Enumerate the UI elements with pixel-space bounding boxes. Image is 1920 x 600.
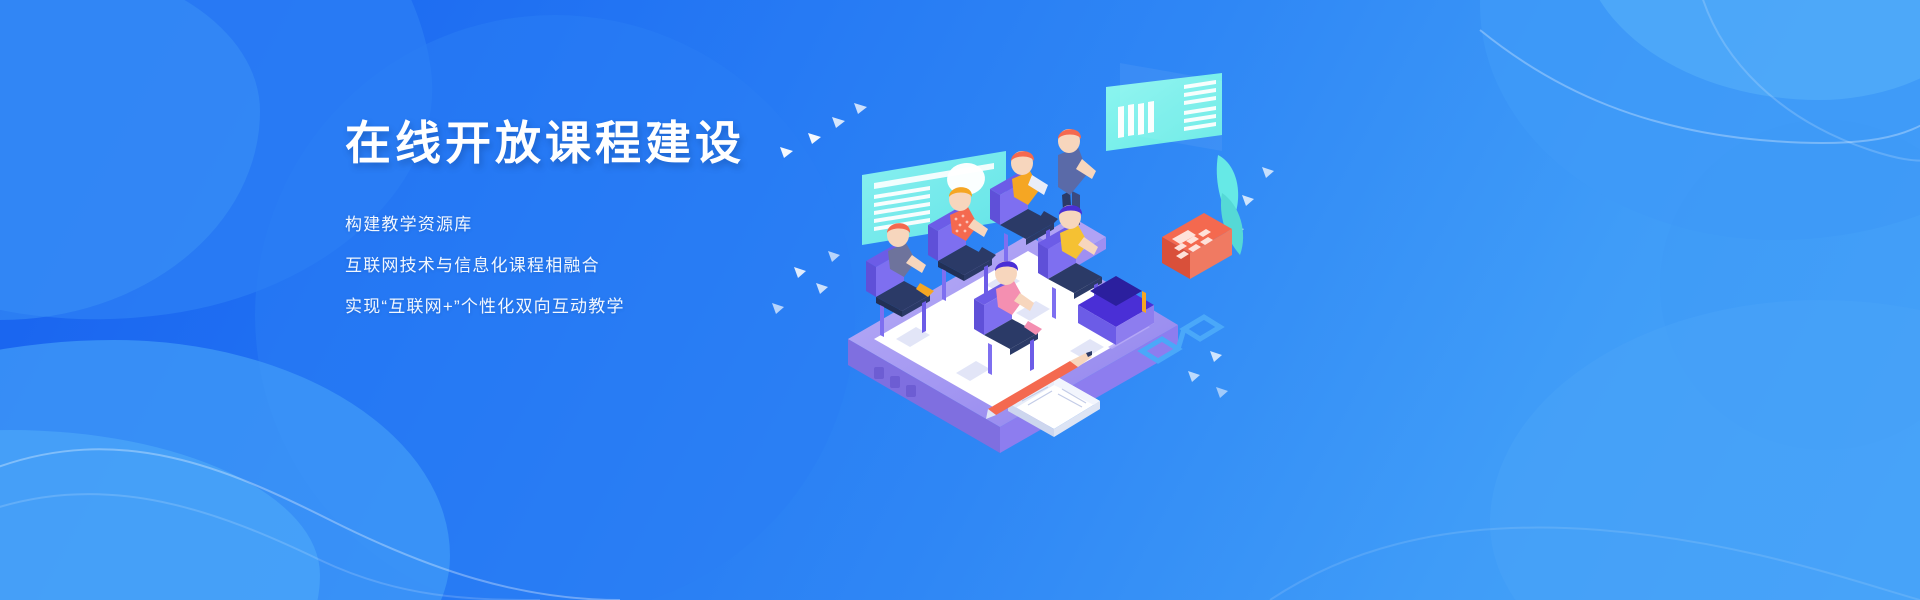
page-title: 在线开放课程建设 xyxy=(345,118,865,170)
calculator-icon xyxy=(1162,213,1232,279)
subtitle-line-2: 互联网技术与信息化课程相融合 xyxy=(345,257,865,274)
banner-text-column: 在线开放课程建设 构建教学资源库 互联网技术与信息化课程相融合 实现“互联网+”… xyxy=(345,118,865,315)
hero-banner: 在线开放课程建设 构建教学资源库 互联网技术与信息化课程相融合 实现“互联网+”… xyxy=(0,0,1920,600)
subtitle-line-3: 实现“互联网+”个性化双向互动教学 xyxy=(345,298,865,315)
subtitle-line-1: 构建教学资源库 xyxy=(345,216,865,233)
